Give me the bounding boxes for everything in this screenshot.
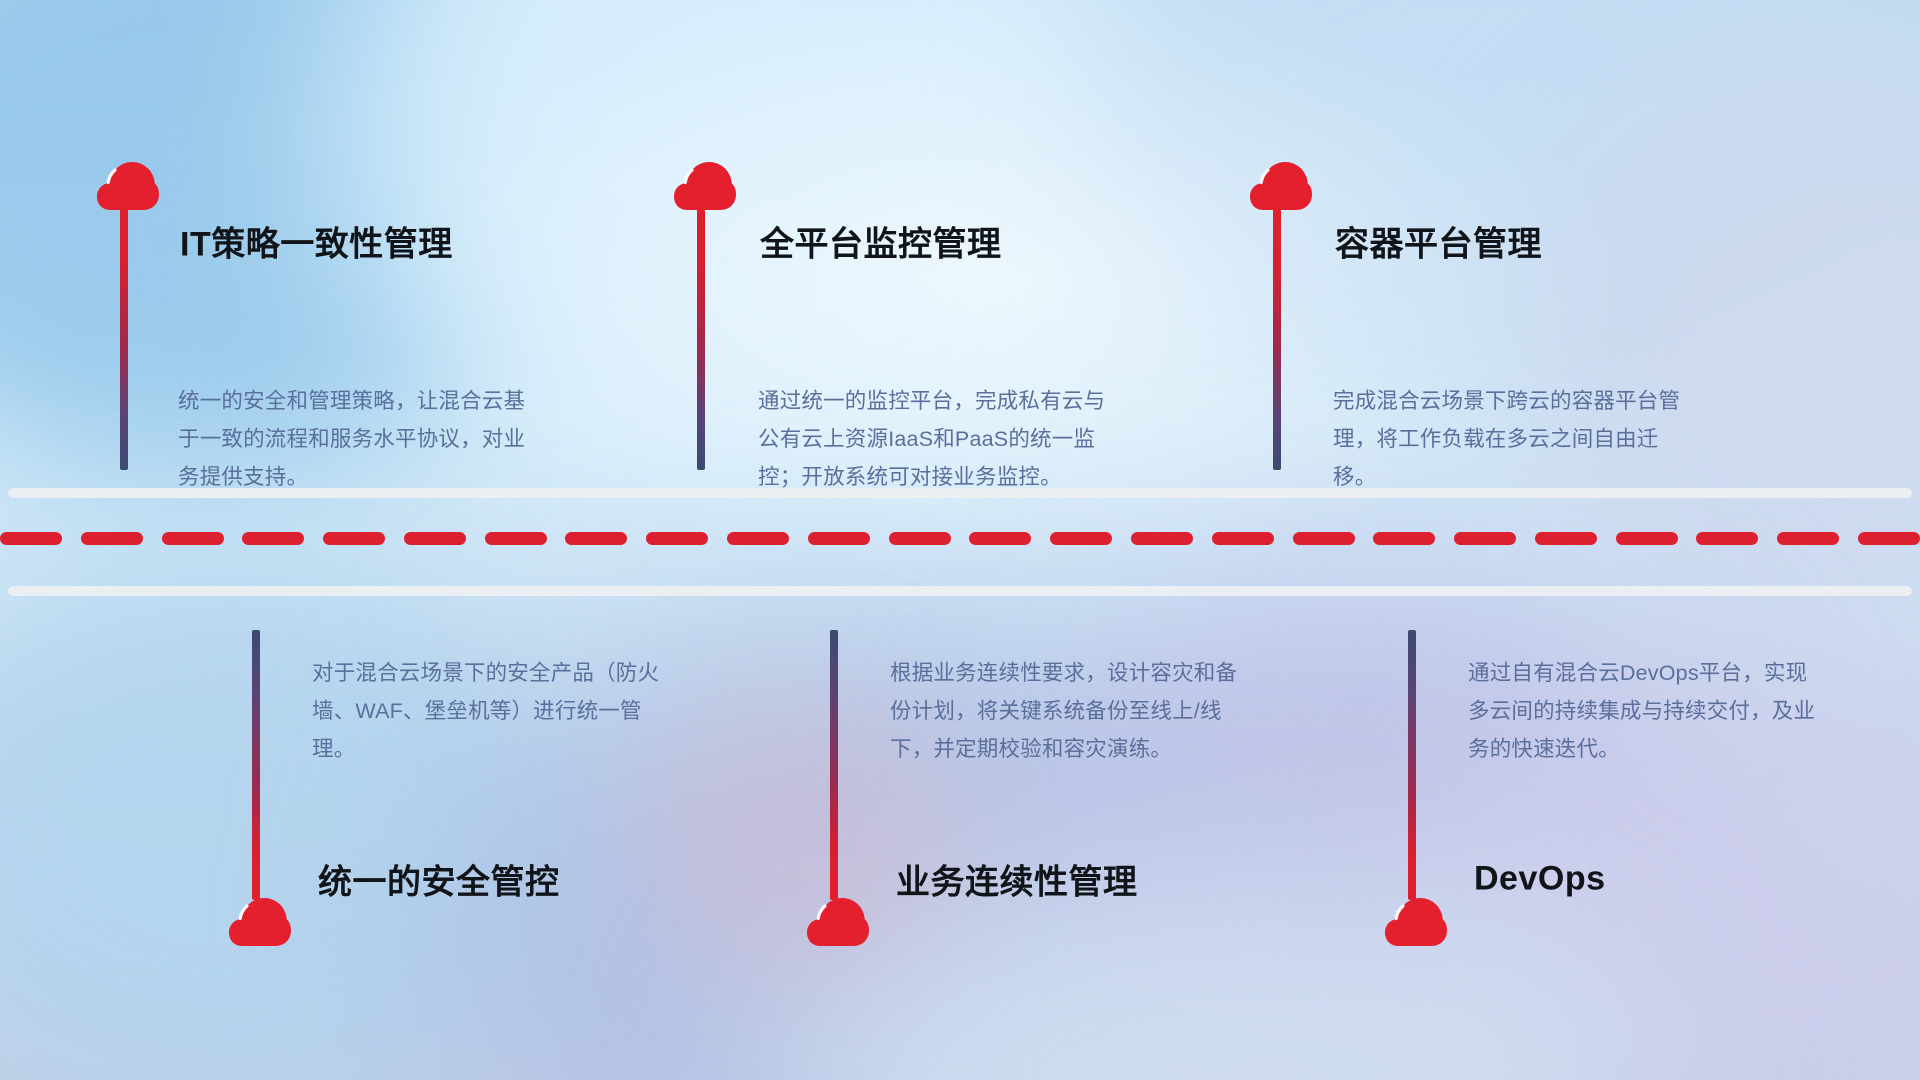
road-dash-segment — [1696, 532, 1758, 545]
road-dash-segment — [404, 532, 466, 545]
road-dash-segment — [808, 532, 870, 545]
road-dash-segment — [242, 532, 304, 545]
connector-line — [1408, 630, 1416, 900]
connector-line — [830, 630, 838, 900]
top-heading-1: IT策略一致性管理 — [180, 217, 453, 266]
road-dash-segment — [727, 532, 789, 545]
infographic-canvas: IT策略一致性管理 统一的安全和管理策略，让混合云基于一致的流程和服务水平协议，… — [0, 0, 1920, 1080]
bottom-heading-3: DevOps — [1474, 860, 1606, 899]
road-dash-segment — [323, 532, 385, 545]
road-dash-segment — [889, 532, 951, 545]
road-dash-segment — [969, 532, 1031, 545]
road-dash-segment — [1293, 532, 1355, 545]
road-dash-segment — [1050, 532, 1112, 545]
road-dash-segment — [162, 532, 224, 545]
connector-line — [252, 630, 260, 900]
road-dash-segment — [485, 532, 547, 545]
bottom-body-2: 根据业务连续性要求，设计容灾和备份计划，将关键系统备份至线上/线下，并定期校验和… — [890, 654, 1240, 768]
road-dash-segment — [1616, 532, 1678, 545]
road-dash-segment — [646, 532, 708, 545]
road-dash-segment — [565, 532, 627, 545]
road-dashed-center-line — [0, 532, 1920, 545]
road-dash-segment — [1131, 532, 1193, 545]
top-heading-3: 容器平台管理 — [1335, 217, 1542, 266]
cloud-icon — [1384, 896, 1448, 948]
cloud-icon — [96, 160, 160, 212]
cloud-icon — [806, 896, 870, 948]
road-dash-segment — [1373, 532, 1435, 545]
cloud-icon — [673, 160, 737, 212]
bottom-body-1: 对于混合云场景下的安全产品（防火墙、WAF、堡垒机等）进行统一管理。 — [312, 654, 662, 768]
road-dash-segment — [1535, 532, 1597, 545]
cloud-icon — [1249, 160, 1313, 212]
top-heading-2: 全平台监控管理 — [760, 217, 1002, 266]
top-body-1: 统一的安全和管理策略，让混合云基于一致的流程和服务水平协议，对业务提供支持。 — [178, 382, 528, 496]
connector-line — [1273, 205, 1281, 470]
road-dash-segment — [1777, 532, 1839, 545]
bottom-heading-2: 业务连续性管理 — [896, 855, 1138, 904]
road-dash-segment — [1858, 532, 1920, 545]
road-divider — [0, 488, 1920, 600]
road-dash-segment — [1454, 532, 1516, 545]
top-body-2: 通过统一的监控平台，完成私有云与公有云上资源IaaS和PaaS的统一监控；开放系… — [758, 382, 1108, 496]
connector-line — [697, 205, 705, 470]
bottom-body-3: 通过自有混合云DevOps平台，实现多云间的持续集成与持续交付，及业务的快速迭代… — [1468, 654, 1818, 768]
cloud-icon — [228, 896, 292, 948]
road-edge-top — [8, 488, 1912, 498]
bottom-heading-1: 统一的安全管控 — [318, 855, 560, 904]
connector-line — [120, 205, 128, 470]
top-body-3: 完成混合云场景下跨云的容器平台管理，将工作负载在多云之间自由迁移。 — [1333, 382, 1683, 496]
road-dash-segment — [81, 532, 143, 545]
road-dash-segment — [1212, 532, 1274, 545]
road-dash-segment — [0, 532, 62, 545]
road-edge-bottom — [8, 586, 1912, 596]
